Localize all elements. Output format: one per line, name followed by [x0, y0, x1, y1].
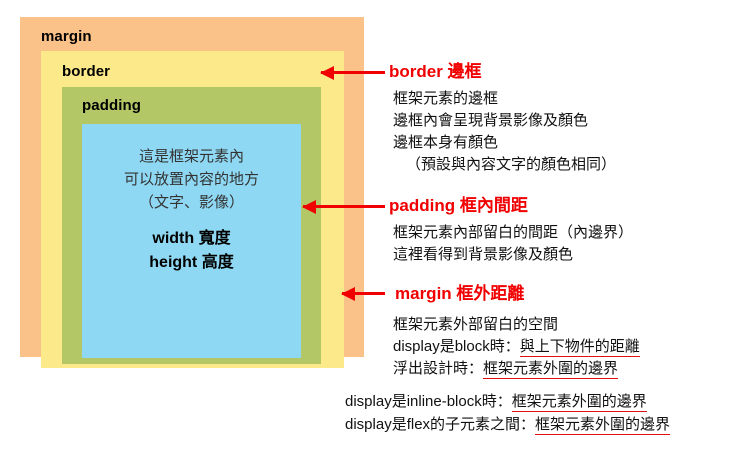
margin-desc-line-3: 浮出設計時：框架元素外圍的邊界 — [393, 358, 640, 380]
border-desc-line-3: 邊框本身有顏色 — [393, 132, 616, 154]
border-desc-line-1: 框架元素的邊框 — [393, 88, 616, 110]
content-layer: 這是框架元素內 可以放置內容的地方 （文字、影像） width 寬度 heigh… — [82, 124, 301, 358]
content-width-line: width 寬度 — [152, 227, 230, 251]
margin-block-emphasis: 與上下物件的距離 — [520, 338, 640, 357]
border-desc-line-2: 邊框內會呈現背景影像及顏色 — [393, 110, 616, 132]
content-line-1: 這是框架元素內 — [139, 145, 244, 168]
padding-heading: padding 框內間距 — [389, 197, 528, 214]
annotations-panel: border 邊框 框架元素的邊框 邊框內會呈現背景影像及顏色 邊框本身有顏色 … — [389, 0, 750, 461]
extra-description: display是inline-block時：框架元素外圍的邊界 display是… — [345, 390, 670, 436]
padding-arrow-icon — [303, 205, 385, 208]
margin-block-prefix: display是block時： — [393, 338, 520, 355]
flex-prefix: display是flex的子元素之間： — [345, 416, 535, 433]
inline-block-prefix: display是inline-block時： — [345, 393, 512, 410]
inline-block-emphasis: 框架元素外圍的邊界 — [512, 393, 647, 412]
extra-line-2: display是flex的子元素之間：框架元素外圍的邊界 — [345, 413, 670, 436]
border-description: 框架元素的邊框 邊框內會呈現背景影像及顏色 邊框本身有顏色 （預設與內容文字的顏… — [393, 88, 616, 176]
padding-label: padding — [82, 98, 321, 113]
border-arrow-icon — [321, 71, 385, 74]
padding-desc-line-1: 框架元素內部留白的間距（內邊界） — [393, 222, 633, 244]
border-layer: border padding 這是框架元素內 可以放置內容的地方 （文字、影像）… — [41, 51, 344, 368]
padding-layer: padding 這是框架元素內 可以放置內容的地方 （文字、影像） width … — [62, 87, 321, 364]
margin-float-prefix: 浮出設計時： — [393, 360, 483, 377]
margin-description: 框架元素外部留白的空間 display是block時：與上下物件的距離 浮出設計… — [393, 314, 640, 380]
margin-label: margin — [41, 29, 364, 44]
margin-desc-line-2: display是block時：與上下物件的距離 — [393, 336, 640, 358]
margin-heading: margin 框外距離 — [395, 285, 524, 302]
padding-description: 框架元素內部留白的間距（內邊界） 這裡看得到背景影像及顏色 — [393, 222, 633, 266]
border-label: border — [62, 64, 344, 79]
content-height-line: height 高度 — [149, 251, 233, 275]
margin-arrow-icon — [342, 292, 385, 295]
box-model-diagram: margin border padding 這是框架元素內 可以放置內容的地方 … — [20, 17, 364, 357]
border-heading: border 邊框 — [389, 63, 482, 80]
margin-float-emphasis: 框架元素外圍的邊界 — [483, 360, 618, 379]
margin-layer: margin border padding 這是框架元素內 可以放置內容的地方 … — [20, 17, 364, 357]
border-desc-line-4: （預設與內容文字的顏色相同） — [393, 154, 616, 176]
margin-desc-line-1: 框架元素外部留白的空間 — [393, 314, 640, 336]
content-line-3: （文字、影像） — [139, 191, 244, 214]
content-line-2: 可以放置內容的地方 — [124, 168, 259, 191]
padding-desc-line-2: 這裡看得到背景影像及顏色 — [393, 244, 633, 266]
extra-line-1: display是inline-block時：框架元素外圍的邊界 — [345, 390, 670, 413]
flex-emphasis: 框架元素外圍的邊界 — [535, 416, 670, 435]
